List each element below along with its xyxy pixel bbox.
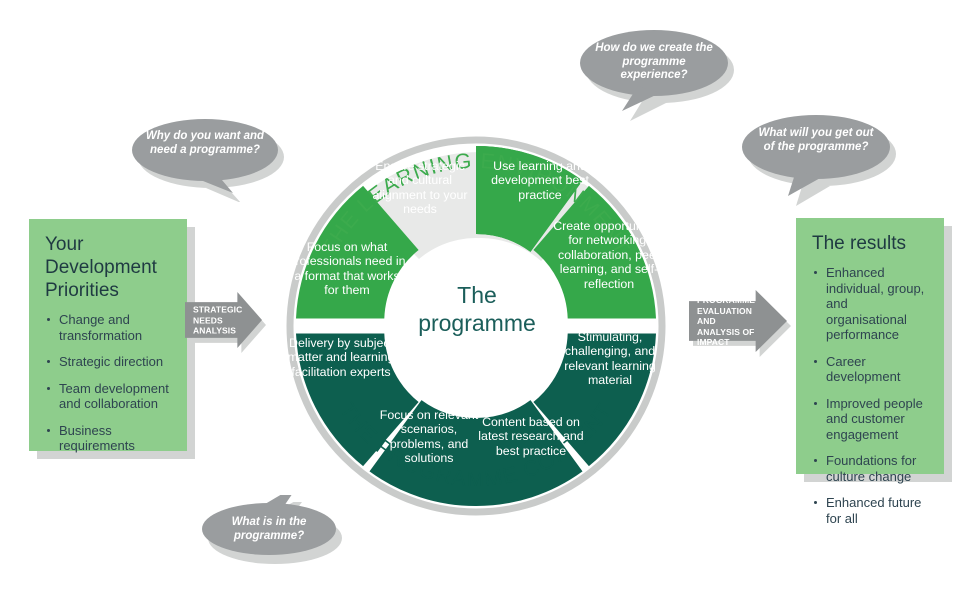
bubble-text: Why do you want and need a programme? bbox=[130, 130, 280, 157]
bubble-text: How do we create the programme experienc… bbox=[578, 42, 730, 83]
speech-bubble-get-out-of: What will you get out of the programme? bbox=[740, 113, 892, 199]
list-item: Strategic direction bbox=[45, 354, 171, 370]
left-panel-list: Change and transformation Strategic dire… bbox=[45, 312, 171, 454]
bubble-body bbox=[740, 113, 892, 199]
left-panel-title: Your Development Priorities bbox=[45, 233, 171, 302]
list-item: Team development and collaboration bbox=[45, 381, 171, 412]
right-panel-list: Enhanced individual, group, and organisa… bbox=[812, 265, 928, 526]
arrow-label: PROGRAMME EVALUATION AND ANALYSIS OF IMP… bbox=[697, 295, 759, 348]
diagram-canvas: Your Development Priorities Change and t… bbox=[0, 0, 976, 594]
speech-bubble-create-experience: How do we create the programme experienc… bbox=[578, 28, 730, 114]
arrow-programme-evaluation-and-analysis-of-impact: PROGRAMME EVALUATION AND ANALYSIS OF IMP… bbox=[689, 290, 787, 352]
list-item: Change and transformation bbox=[45, 312, 171, 343]
left-panel-your-development-priorities: Your Development Priorities Change and t… bbox=[29, 219, 187, 451]
list-item: Career development bbox=[812, 354, 928, 385]
right-panel-title: The results bbox=[812, 232, 928, 255]
arrow-strategic-needs-analysis: STRATEGIC NEEDS ANALYSIS bbox=[185, 292, 262, 348]
list-item: Business requirements bbox=[45, 423, 171, 454]
arrow-label: STRATEGIC NEEDS ANALYSIS bbox=[193, 304, 243, 336]
bubble-text: What will you get out of the programme? bbox=[740, 127, 892, 154]
speech-bubble-what-is-in: What is in the programme? bbox=[200, 495, 338, 559]
wheel-center-label: The programme bbox=[398, 281, 556, 337]
list-item: Foundations for culture change bbox=[812, 453, 928, 484]
list-item: Enhanced future for all bbox=[812, 495, 928, 526]
bubble-text: What is in the programme? bbox=[200, 516, 338, 543]
list-item: Enhanced individual, group, and organisa… bbox=[812, 265, 928, 343]
right-panel-the-results: The results Enhanced individual, group, … bbox=[796, 218, 944, 474]
list-item: Improved people and customer engagement bbox=[812, 396, 928, 443]
speech-bubble-why-programme: Why do you want and need a programme? bbox=[130, 117, 280, 195]
